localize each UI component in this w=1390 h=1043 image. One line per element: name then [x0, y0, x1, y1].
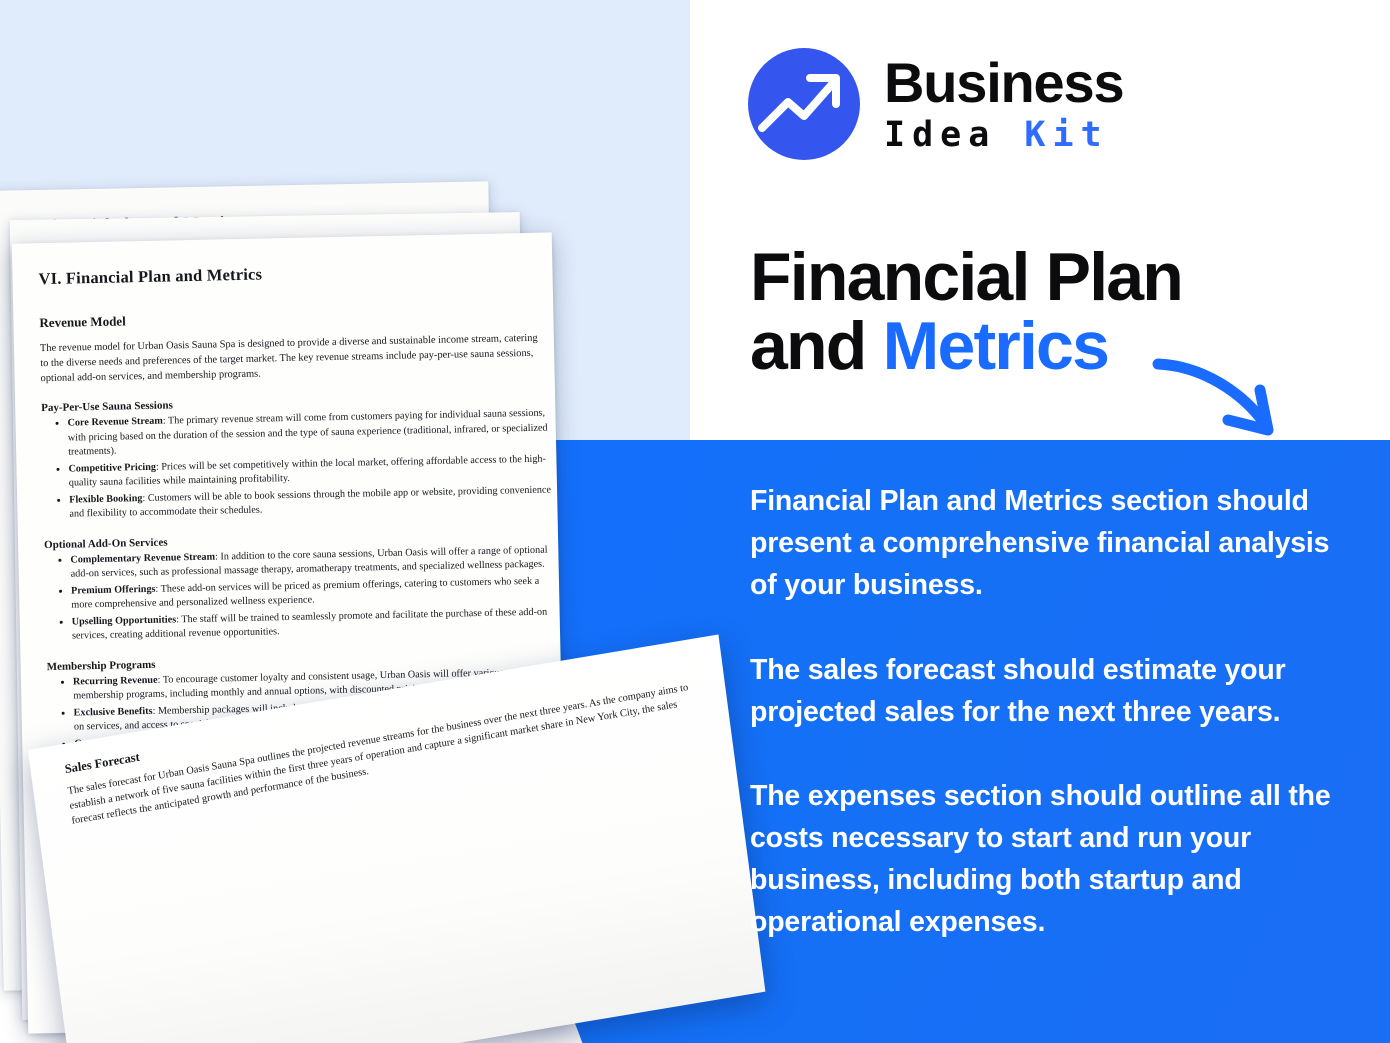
brand-line-idea-kit: Idea Kit [884, 118, 1123, 153]
list-item: Core Revenue Stream: The primary revenue… [67, 407, 550, 461]
list-item-term: Complementary Revenue Stream [70, 551, 215, 565]
document-stack: VI. Financial Plan and Metrics Revenue M… [0, 150, 740, 1030]
page-title-line1: Financial Plan [750, 243, 1310, 312]
doc-group-list-pay-per-use: Core Revenue Stream: The primary revenue… [41, 407, 551, 523]
panel-paragraph-2: The sales forecast should estimate your … [750, 649, 1350, 733]
panel-paragraph-1: Financial Plan and Metrics section shoul… [750, 480, 1350, 607]
trending-up-arrow-icon [748, 48, 860, 160]
brand-idea: Idea [884, 115, 996, 155]
brand-line-business: Business [884, 55, 1123, 111]
doc-intro-paragraph: The revenue model for Urban Oasis Sauna … [40, 332, 549, 387]
page-title-and: and [750, 308, 883, 384]
doc-heading-revenue-model: Revenue Model [39, 305, 547, 332]
brand-kit: Kit [1024, 115, 1108, 155]
list-item-term: Recurring Revenue [73, 674, 158, 687]
brand-logo: Business Idea Kit [748, 48, 1123, 160]
list-item-term: Exclusive Benefits [74, 705, 153, 718]
panel-body-copy: Financial Plan and Metrics section shoul… [750, 480, 1350, 944]
list-item-term: Premium Offerings [71, 583, 156, 596]
list-item-term: Core Revenue Stream [67, 416, 162, 429]
doc-title: VI. Financial Plan and Metrics [38, 259, 546, 290]
curved-arrow-down-right-icon [1150, 352, 1300, 447]
brand-wordmark: Business Idea Kit [884, 55, 1123, 153]
page-title-metrics: Metrics [883, 308, 1109, 384]
panel-paragraph-3: The expenses section should outline all … [750, 775, 1350, 944]
list-item-term: Upselling Opportunities [72, 614, 177, 627]
list-item-term: Competitive Pricing [68, 462, 156, 475]
doc-group-list-add-on: Complementary Revenue Stream: In additio… [44, 543, 554, 645]
slide-canvas: VI. Financial Plan and Metrics Revenue M… [0, 0, 1390, 1043]
list-item-term: Flexible Booking [69, 493, 143, 506]
